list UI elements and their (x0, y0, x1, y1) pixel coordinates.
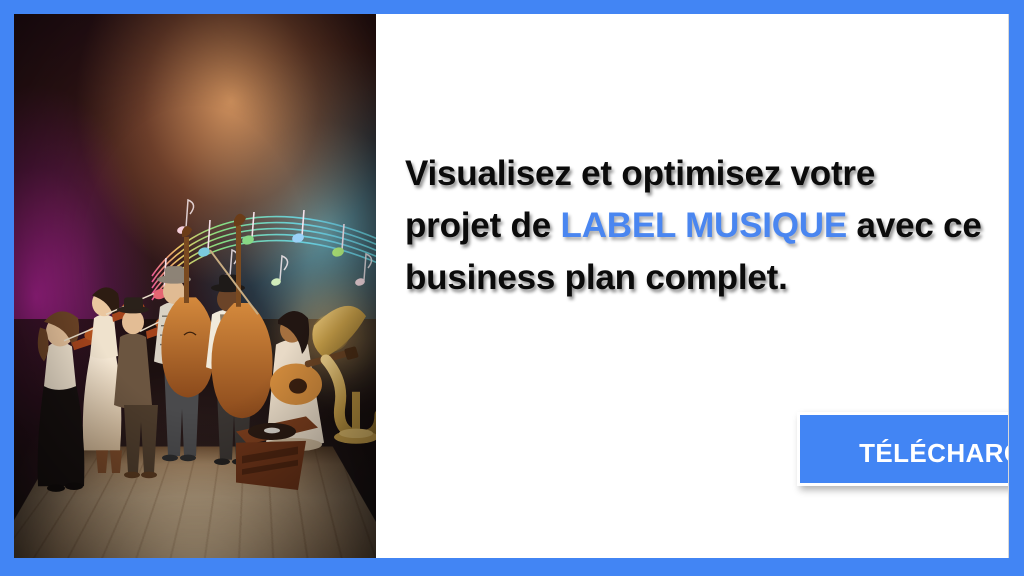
page-title: Visualisez et optimisez votre projet de … (405, 148, 985, 303)
musicians-stage-photo (14, 14, 376, 558)
content-panel: Visualisez et optimisez votre projet de … (376, 14, 1008, 558)
download-now-button[interactable]: TÉLÉCHARGER MAINTENANT (797, 412, 1009, 486)
headline-line-2-after: avec ce (847, 206, 982, 245)
headline-line-1: Visualisez et optimisez votre (405, 154, 875, 193)
promo-banner: Visualisez et optimisez votre projet de … (0, 0, 1024, 576)
cta-container: TÉLÉCHARGER MAINTENANT (797, 412, 1009, 486)
photo-vignette (14, 14, 376, 558)
headline-line-2-before: projet de (405, 206, 561, 245)
banner-inner-panel: Visualisez et optimisez votre projet de … (14, 14, 1009, 558)
headline-line-3: business plan complet. (405, 258, 788, 297)
headline-highlight: LABEL MUSIQUE (561, 206, 848, 245)
